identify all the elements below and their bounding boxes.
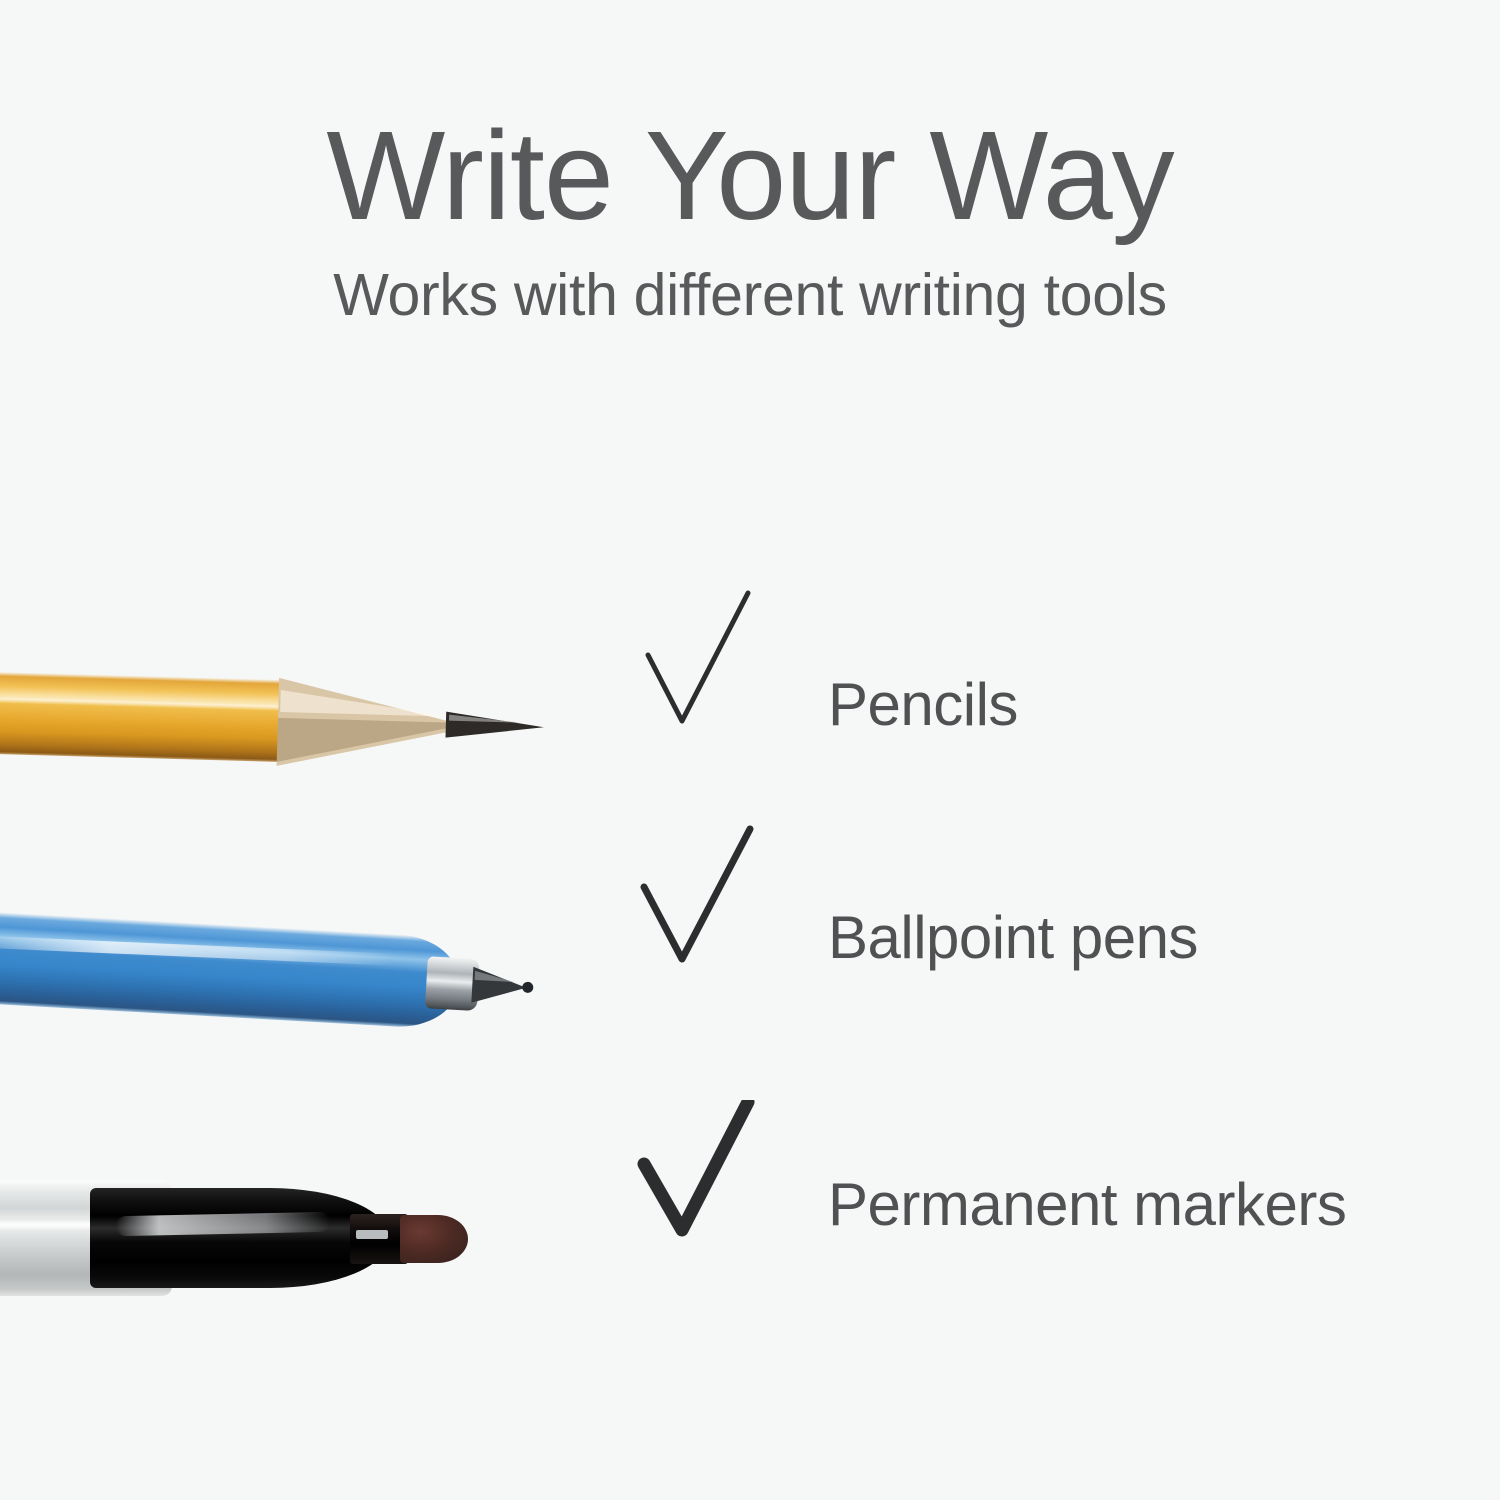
feature-row-pencils: Pencils xyxy=(0,585,1500,835)
page-title: Write Your Way xyxy=(0,112,1500,241)
promo-graphic: Write Your Way Works with different writ… xyxy=(0,0,1500,1500)
feature-label-pencils: Pencils xyxy=(828,670,1018,739)
checkmark-icon xyxy=(620,825,820,1075)
feature-row-ballpoint-pens: Ballpoint pens xyxy=(0,825,1500,1075)
pencil-wood-shadow xyxy=(277,718,472,767)
pen-barrel xyxy=(0,909,462,1030)
pen-illustration xyxy=(0,903,582,1049)
feature-label-ballpoint-pens: Ballpoint pens xyxy=(828,903,1198,972)
ballpoint-pen-icon xyxy=(0,825,620,1075)
checkmark-stroke xyxy=(644,829,750,959)
checkmark-stroke xyxy=(648,593,748,721)
pencil-wood-highlight xyxy=(280,690,451,717)
permanent-marker-icon xyxy=(0,1100,620,1350)
pen-ball-point xyxy=(522,982,534,994)
feature-label-permanent-markers: Permanent markers xyxy=(828,1170,1346,1239)
marker-felt-tip xyxy=(400,1215,468,1263)
marker-nose-cone xyxy=(90,1188,390,1288)
pencil-illustration xyxy=(0,671,561,772)
marker-illustration xyxy=(0,1160,570,1300)
pencil-barrel xyxy=(0,671,291,762)
checkmark-icon xyxy=(620,585,820,835)
checkmark-icon xyxy=(620,1100,820,1350)
marker-collar-slot xyxy=(356,1230,388,1239)
header-block: Write Your Way Works with different writ… xyxy=(0,112,1500,327)
feature-row-permanent-markers: Permanent markers xyxy=(0,1100,1500,1350)
pencil-icon xyxy=(0,585,620,835)
page-subtitle: Works with different writing tools xyxy=(0,263,1500,328)
checkmark-stroke xyxy=(644,1102,748,1230)
